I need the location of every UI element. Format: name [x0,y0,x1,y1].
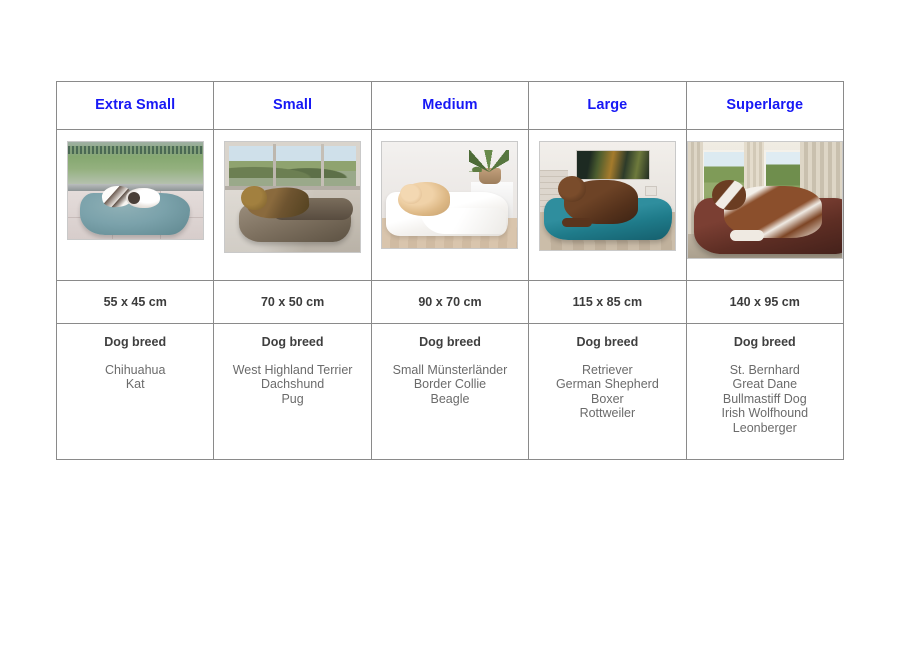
breed-title: Dog breed [57,336,213,349]
breed-list: Chihuahua Kat [57,363,213,392]
breed-item: Rottweiler [529,406,685,421]
breeds-cell-superlarge: Dog breed St. Bernhard Great Dane Bullma… [686,324,843,460]
breeds-cell-large: Dog breed Retriever German Shepherd Boxe… [529,324,686,460]
photo-dog-head [558,176,586,202]
breed-item: Bullmastiff Dog [687,392,843,407]
page-canvas: Extra Small Small Medium Large Superlarg… [0,0,900,660]
photo-window-mullion [273,144,276,192]
breed-item: Irish Wolfhound [687,406,843,421]
breeds-cell-extra-small: Dog breed Chihuahua Kat [57,324,214,460]
breed-list: West Highland Terrier Dachshund Pug [214,363,370,407]
size-header-label: Large [529,98,685,113]
breed-block: Dog breed West Highland Terrier Dachshun… [214,324,370,406]
photo-cell-small [214,130,371,281]
dimensions-label: 90 x 70 cm [372,296,528,309]
breed-item: Dachshund [214,377,370,392]
product-photo-large [539,141,676,251]
header-cell-medium: Medium [371,82,528,130]
breed-list: Retriever German Shepherd Boxer Rottweil… [529,363,685,421]
photo-dog-paw [562,218,592,227]
dimensions-label: 55 x 45 cm [57,296,213,309]
table-breeds-row: Dog breed Chihuahua Kat Dog breed West H… [57,324,844,460]
breed-list: St. Bernhard Great Dane Bullmastiff Dog … [687,363,843,436]
photo-cell-large [529,130,686,281]
breed-title: Dog breed [687,336,843,349]
breed-title: Dog breed [372,336,528,349]
photo-wrapper [372,130,528,269]
photo-cell-medium [371,130,528,281]
photo-cell-extra-small [57,130,214,281]
breed-item: Chihuahua [57,363,213,378]
photo-fence [68,146,203,154]
breed-item: Leonberger [687,421,843,436]
size-header-label: Superlarge [687,98,843,113]
breed-block: Dog breed St. Bernhard Great Dane Bullma… [687,324,843,435]
photo-landscape [229,158,356,178]
photo-artwork [576,150,650,180]
photo-wrapper [57,130,213,269]
size-header-label: Extra Small [57,98,213,113]
dimensions-label: 115 x 85 cm [529,296,685,309]
breed-block: Dog breed Retriever German Shepherd Boxe… [529,324,685,421]
photo-cell-superlarge [686,130,843,281]
product-photo-small [224,141,361,253]
breed-item: Border Collie [372,377,528,392]
dimensions-cell-small: 70 x 50 cm [214,281,371,324]
photo-wall-socket [645,186,657,196]
dimensions-cell-large: 115 x 85 cm [529,281,686,324]
breed-item: Retriever [529,363,685,378]
size-header-label: Medium [372,98,528,113]
dog-bed-size-table: Extra Small Small Medium Large Superlarg… [56,81,844,460]
photo-cat [126,188,160,208]
breeds-cell-small: Dog breed West Highland Terrier Dachshun… [214,324,371,460]
breed-title: Dog breed [214,336,370,349]
breed-item: Kat [57,377,213,392]
breed-item: Boxer [529,392,685,407]
breed-block: Dog breed Small Münsterländer Border Col… [372,324,528,406]
breed-list: Small Münsterländer Border Collie Beagle [372,363,528,407]
dimensions-label: 140 x 95 cm [687,296,843,309]
breed-item: West Highland Terrier [214,363,370,378]
header-cell-extra-small: Extra Small [57,82,214,130]
photo-dog-paw [730,230,764,241]
breed-item: Pug [214,392,370,407]
photo-plant [469,150,509,172]
photo-wrapper [687,130,843,269]
breed-item: Beagle [372,392,528,407]
table-dimensions-row: 55 x 45 cm 70 x 50 cm 90 x 70 cm 115 x 8… [57,281,844,324]
dimensions-cell-medium: 90 x 70 cm [371,281,528,324]
breeds-cell-medium: Dog breed Small Münsterländer Border Col… [371,324,528,460]
photo-dog-head [241,186,267,210]
product-photo-superlarge [687,141,843,259]
breed-item: German Shepherd [529,377,685,392]
breed-item: St. Bernhard [687,363,843,378]
breed-title: Dog breed [529,336,685,349]
header-cell-small: Small [214,82,371,130]
header-cell-large: Large [529,82,686,130]
dimensions-cell-superlarge: 140 x 95 cm [686,281,843,324]
dimensions-cell-extra-small: 55 x 45 cm [57,281,214,324]
product-photo-extra-small [67,141,204,240]
breed-item: Small Münsterländer [372,363,528,378]
size-header-label: Small [214,98,370,113]
photo-dog [398,182,450,216]
header-cell-superlarge: Superlarge [686,82,843,130]
table-photo-row [57,130,844,281]
photo-wrapper [529,130,685,269]
photo-wrapper [214,130,370,269]
photo-dog-head [712,180,746,210]
product-photo-medium [381,141,518,249]
dimensions-label: 70 x 50 cm [214,296,370,309]
breed-item: Great Dane [687,377,843,392]
breed-block: Dog breed Chihuahua Kat [57,324,213,392]
table-header-row: Extra Small Small Medium Large Superlarg… [57,82,844,130]
